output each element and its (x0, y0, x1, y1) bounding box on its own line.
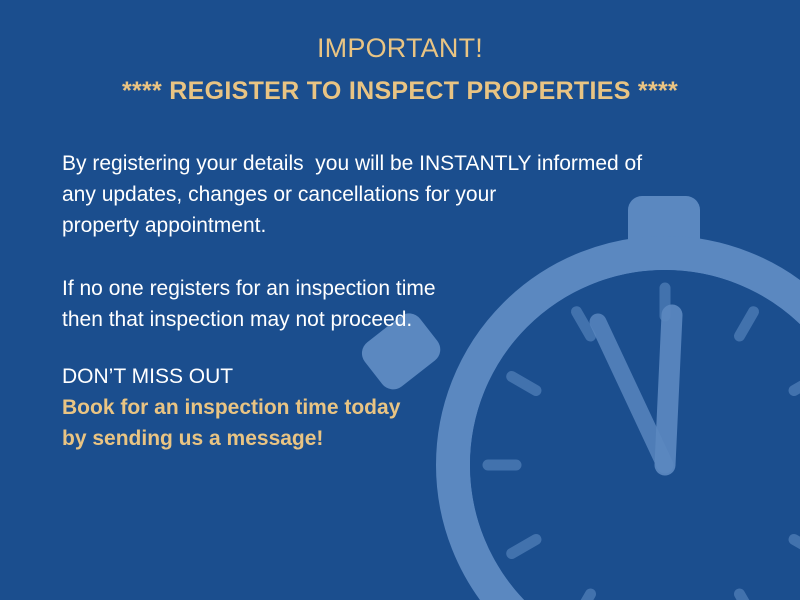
headline-group: IMPORTANT! **** REGISTER TO INSPECT PROP… (0, 30, 800, 108)
headline-register-to-inspect: **** REGISTER TO INSPECT PROPERTIES **** (0, 74, 800, 108)
cta-send-message: by sending us a message! (62, 423, 400, 454)
paragraph1-line3: property appointment. (62, 210, 642, 241)
promotional-slide: IMPORTANT! **** REGISTER TO INSPECT PROP… (0, 0, 800, 600)
call-to-action-block: DON’T MISS OUT Book for an inspection ti… (62, 361, 400, 454)
paragraph-registering-details: By registering your details you will be … (62, 148, 642, 241)
cta-book-inspection: Book for an inspection time today (62, 392, 400, 423)
paragraph1-line1: By registering your details you will be … (62, 148, 642, 179)
paragraph1-line2: any updates, changes or cancellations fo… (62, 179, 642, 210)
slide-text-layer: IMPORTANT! **** REGISTER TO INSPECT PROP… (0, 0, 800, 600)
paragraph-no-registration-warning: If no one registers for an inspection ti… (62, 273, 436, 335)
headline-important: IMPORTANT! (0, 30, 800, 66)
paragraph2-line2: then that inspection may not proceed. (62, 304, 436, 335)
cta-dont-miss-out: DON’T MISS OUT (62, 361, 400, 392)
paragraph2-line1: If no one registers for an inspection ti… (62, 273, 436, 304)
